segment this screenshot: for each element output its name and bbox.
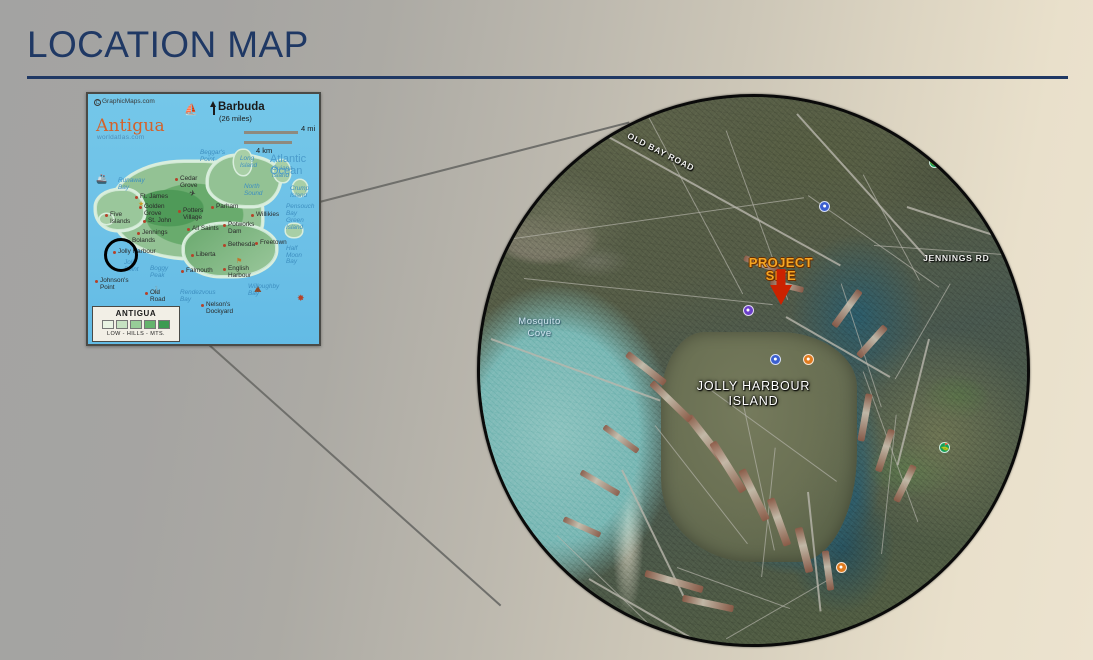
ocean-label-line: Atlantic xyxy=(270,154,306,166)
barbuda-label: Barbuda xyxy=(218,101,265,113)
inset-place-label: Parham xyxy=(216,204,238,211)
inset-place-label: Liberta xyxy=(196,252,216,259)
barbuda-distance-label: (26 miles) xyxy=(219,114,252,123)
inset-legend: ANTIGUA LOW - HILLS - MTS. xyxy=(92,306,180,342)
legend-swatch xyxy=(144,320,156,329)
scale-miles-label: 4 mi xyxy=(301,124,315,133)
inset-place-label: OldRoad xyxy=(150,290,165,303)
inset-place-label: BoggyPeak xyxy=(150,266,168,279)
jolly-harbour-highlight-circle[interactable] xyxy=(104,238,138,272)
inset-place-label: PensouchBay xyxy=(286,204,314,217)
inset-island-title: Antigua xyxy=(96,116,165,136)
inset-place-label: Bolands xyxy=(132,238,155,245)
atlantic-ocean-label: AtlanticOcean xyxy=(270,154,306,177)
arrow-head xyxy=(770,285,792,305)
inset-place-label: Falmouth xyxy=(186,268,213,275)
inset-place-label: Willikies xyxy=(256,212,279,219)
scale-bar-miles xyxy=(244,131,298,134)
slide-canvas: LOCATION MAP CGraphicMaps.com Antigua wo… xyxy=(0,0,1093,660)
fort-icon: ⚑ xyxy=(236,257,242,265)
poi-green-golf[interactable]: ⛳ xyxy=(939,442,950,453)
worldatlas-credit: worldatlas.com xyxy=(97,134,145,141)
poi-green-north[interactable]: ⛳ xyxy=(929,157,940,168)
legend-swatch xyxy=(102,320,114,329)
inset-legend-scale-text: LOW - HILLS - MTS. xyxy=(96,331,176,337)
inset-place-label: RunawayBay xyxy=(118,178,145,191)
inset-locator-map[interactable]: CGraphicMaps.com Antigua worldatlas.com … xyxy=(86,92,321,346)
inset-place-label: LongIsland xyxy=(240,156,257,169)
poi-orange-south[interactable]: ● xyxy=(836,562,847,573)
project-site-arrow-icon xyxy=(770,269,792,305)
title-divider xyxy=(27,76,1068,79)
inset-place-label: Ft. James xyxy=(140,194,168,201)
ferry-icon: 🚢 xyxy=(96,174,107,185)
aerial-photo-circle[interactable]: OLD BAY ROAD JENNINGS RD JOLLY HARBOUR I… xyxy=(477,94,1030,647)
inset-place-label: Bethesda xyxy=(228,242,255,249)
inset-place-label: All Saints xyxy=(192,226,219,233)
inset-place-label: Nelson'sDockyard xyxy=(206,302,233,315)
jolly-harbour-island-landmass xyxy=(661,332,858,562)
inset-place-label: CrumpIsland xyxy=(290,186,309,199)
legend-swatch xyxy=(158,320,170,329)
compass-rose-icon: ✸ xyxy=(297,293,305,304)
legend-swatch xyxy=(116,320,128,329)
inset-legend-title: ANTIGUA xyxy=(96,309,176,318)
barbuda-arrow-stem-icon xyxy=(213,106,215,115)
ocean-label-line: Ocean xyxy=(270,166,306,178)
inset-place-label: NorthSound xyxy=(244,184,262,197)
inset-place-label: Jennings xyxy=(142,230,168,237)
poi-blue-north[interactable]: ● xyxy=(819,201,830,212)
inset-place-label: Freetown xyxy=(260,240,287,247)
inset-place-label: WilloughbyBay xyxy=(248,284,279,297)
poi-orange-island[interactable]: ● xyxy=(803,354,814,365)
inset-place-label: St. John xyxy=(148,218,171,225)
scale-bar-km xyxy=(244,141,292,144)
inset-place-label: Beggar'sPoint xyxy=(200,150,225,163)
inset-place-label: EnglishHarbour xyxy=(228,266,251,279)
inset-place-label: GoldenGrove xyxy=(144,204,165,217)
inset-place-label: GreenIsland xyxy=(286,218,304,231)
graphicmaps-credit: CGraphicMaps.com xyxy=(94,98,155,106)
inset-place-label: Johnson'sPoint xyxy=(100,278,129,291)
inset-place-label: PotworksDam xyxy=(228,222,254,235)
inset-legend-swatches xyxy=(96,320,176,329)
inset-place-label: PottersVillage xyxy=(183,208,203,221)
page-title: LOCATION MAP xyxy=(27,24,309,66)
ship-icon: ⛵ xyxy=(184,105,198,116)
poi-purple-center[interactable]: ● xyxy=(743,305,754,316)
inset-place-label: CedarGrove xyxy=(180,176,197,189)
poi-blue-island[interactable]: ● xyxy=(770,354,781,365)
road-label-jennings-road: JENNINGS RD xyxy=(923,253,989,263)
legend-swatch xyxy=(130,320,142,329)
inset-place-label: HalfMoonBay xyxy=(286,246,302,266)
graphicmaps-credit-text: GraphicMaps.com xyxy=(102,98,155,105)
inset-place-label: FiveIslands xyxy=(110,212,130,225)
copyright-icon: C xyxy=(94,99,101,106)
